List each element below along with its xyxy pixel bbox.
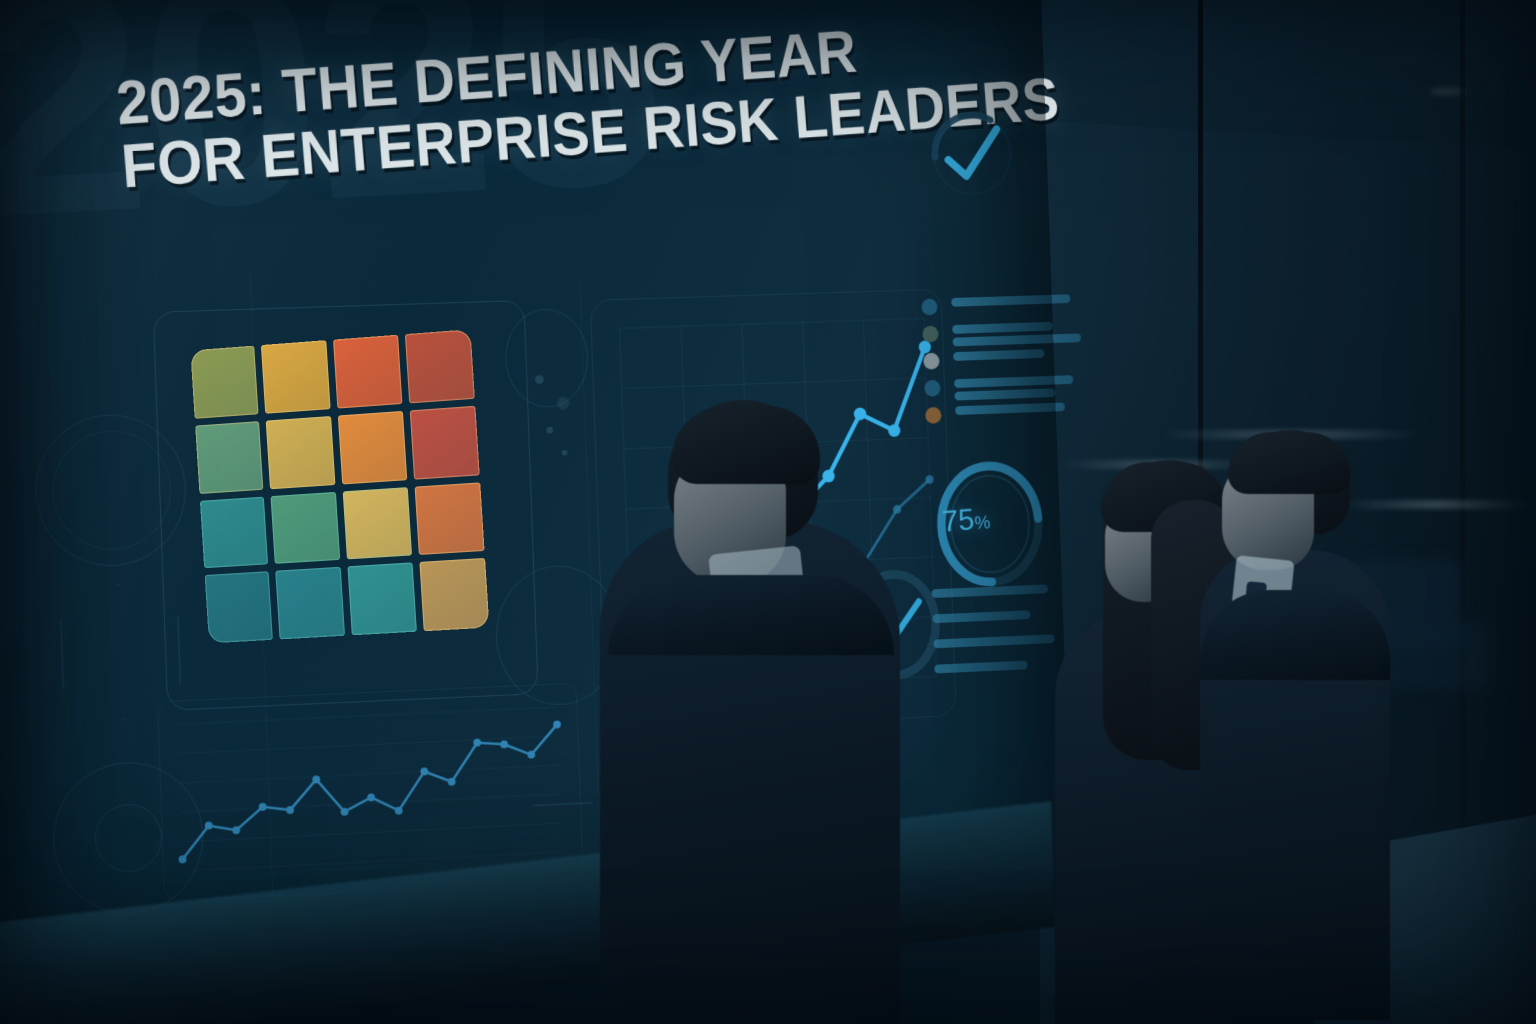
person-man-right xyxy=(1200,430,1390,1024)
screenshot-root: 2025 2025: THE DEFINING YEAR FOR ENTERPR… xyxy=(0,0,1536,1024)
background-furniture xyxy=(1380,620,1490,690)
presentation-screen[interactable]: 2025 2025: THE DEFINING YEAR FOR ENTERPR… xyxy=(0,0,1073,969)
person-executive-center xyxy=(590,400,910,1024)
